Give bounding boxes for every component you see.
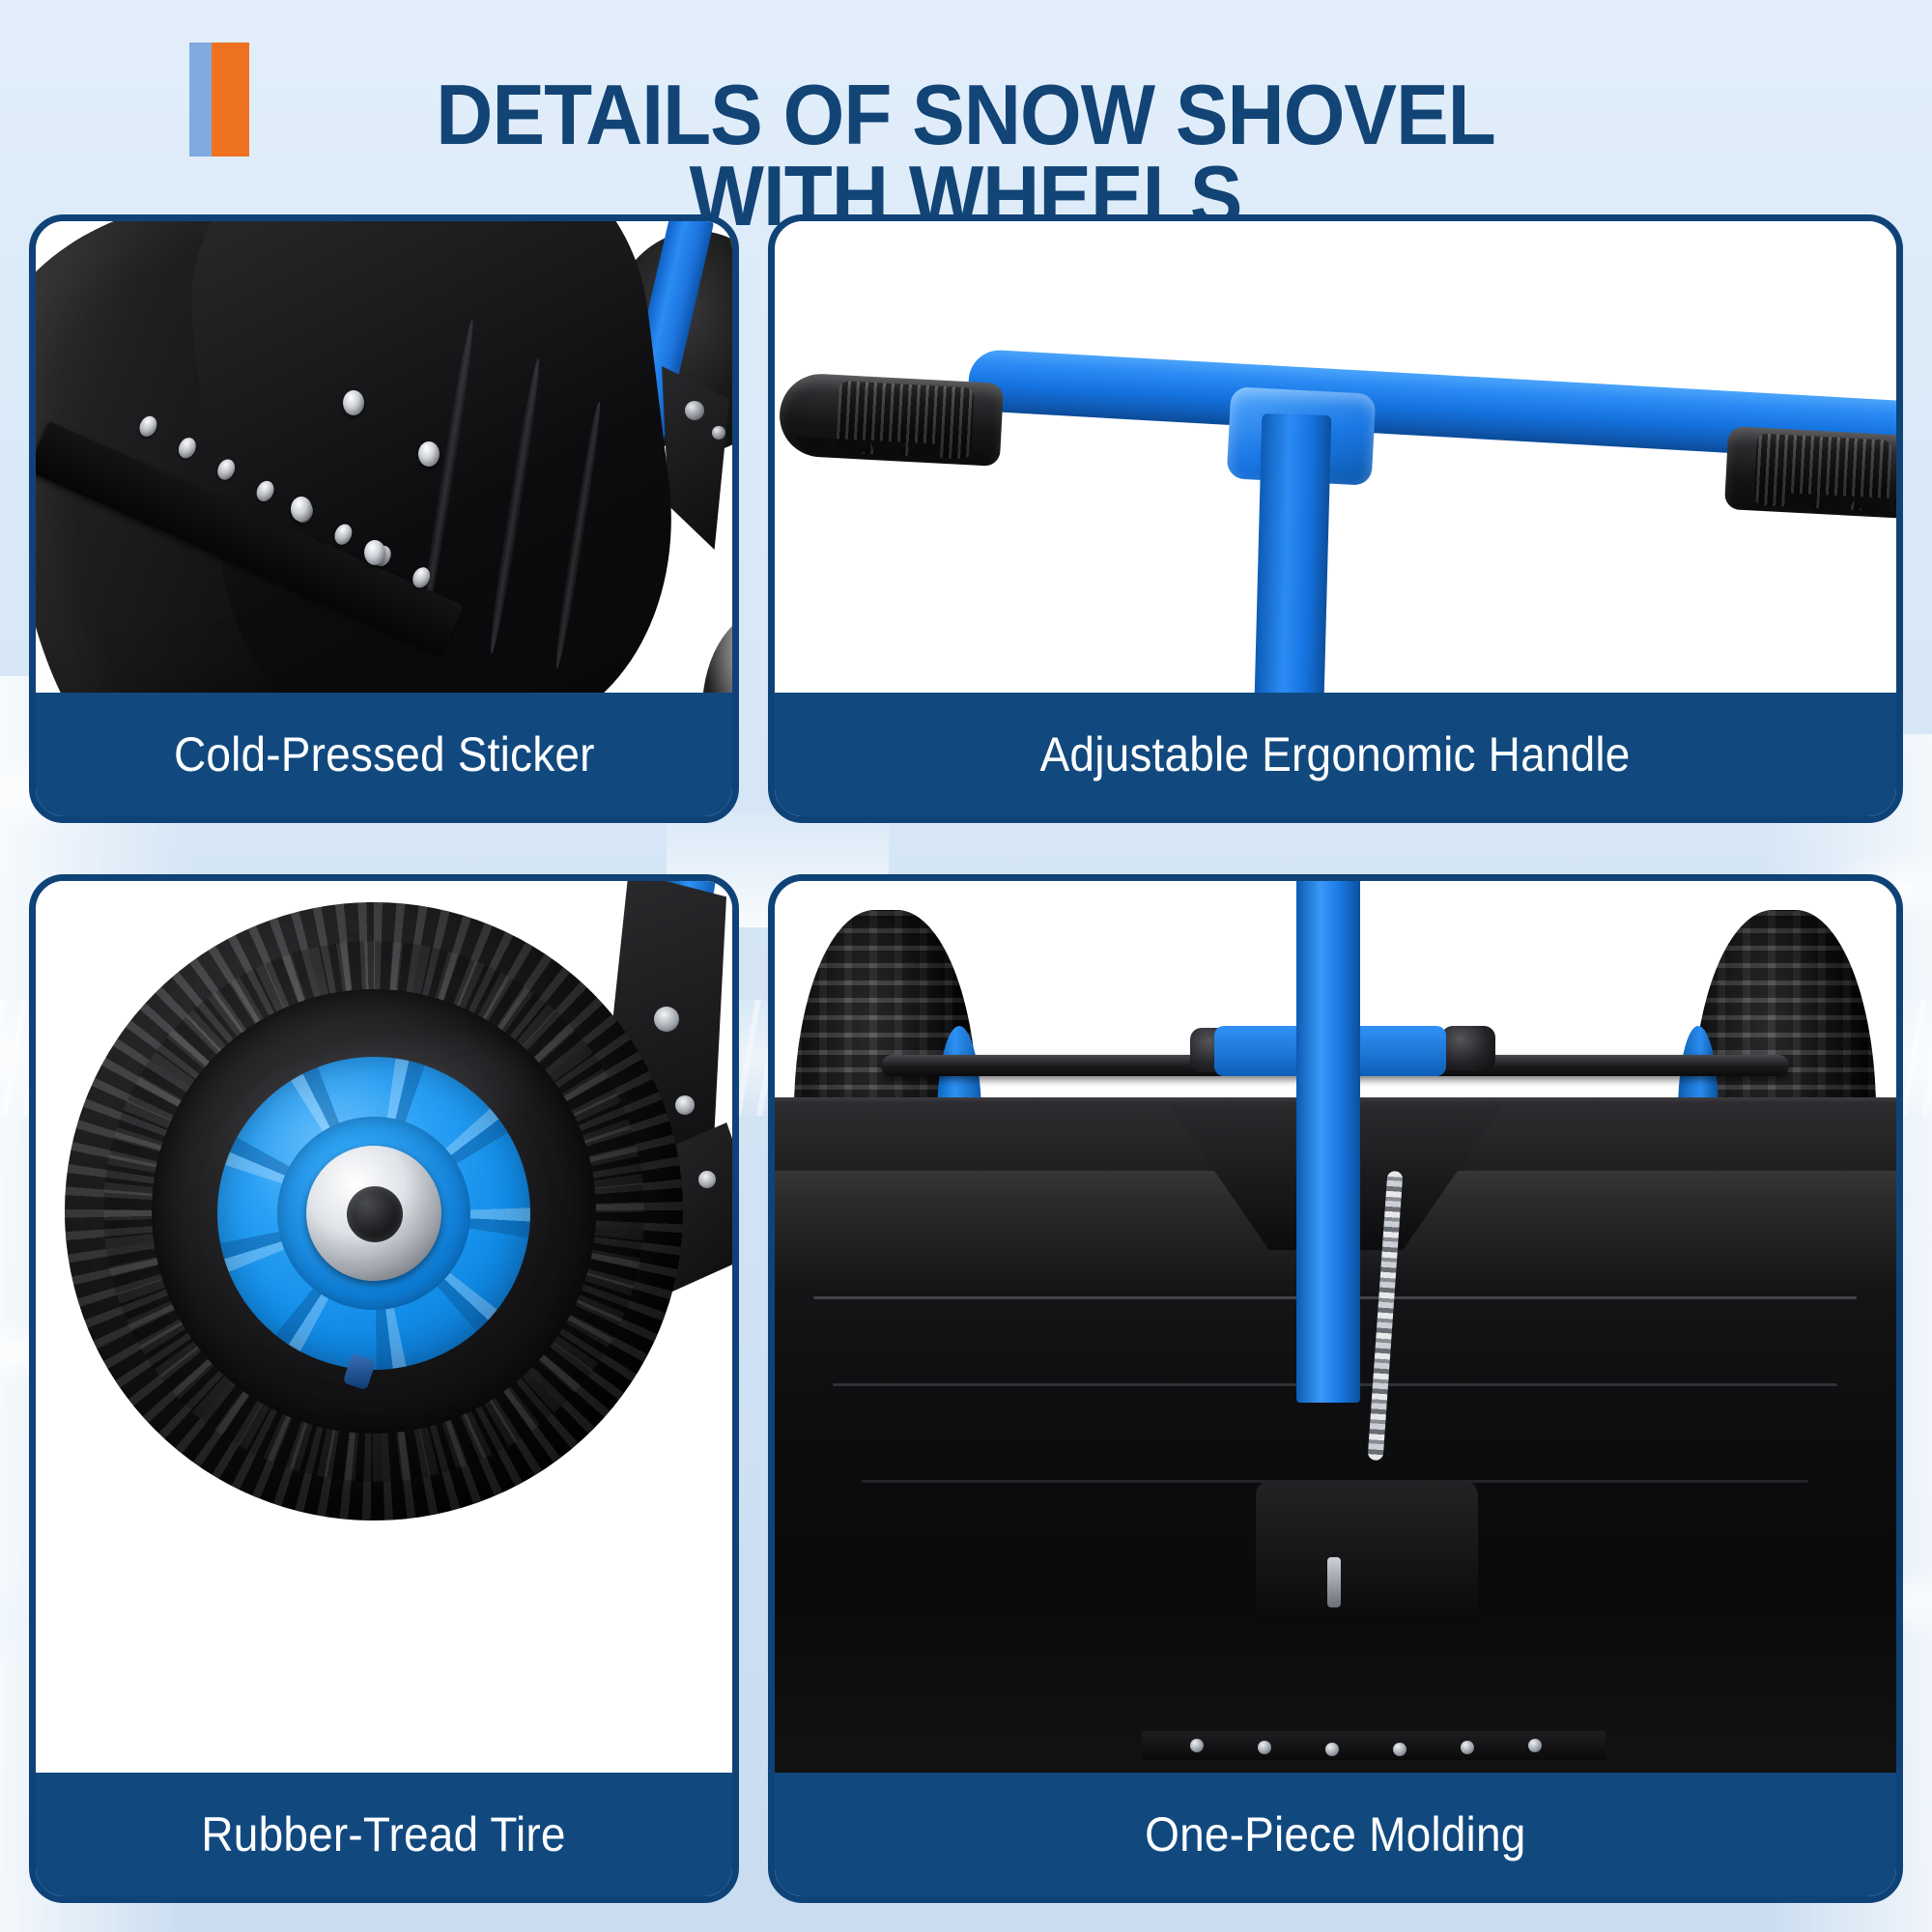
pivot-plate [1256,1480,1478,1625]
panel-caption-bar: Rubber-Tread Tire [36,1773,732,1896]
product-photo-handle [775,221,1896,699]
panel-caption-text: Cold-Pressed Sticker [174,726,595,782]
locking-pin [1327,1557,1341,1607]
page-title-line-1: DETAILS OF SNOW SHOVEL [437,74,1496,156]
feature-panel-rubber-tread-tire[interactable]: Rubber-Tread Tire [29,874,739,1903]
panel-caption-bar: Cold-Pressed Sticker [36,693,732,816]
product-photo-underside [775,881,1896,1775]
panel-caption-text: One-Piece Molding [1145,1806,1525,1862]
title-accent-bar [189,43,249,156]
grip-left [778,372,1004,467]
panel-caption-text: Rubber-Tread Tire [202,1806,566,1862]
panel-caption-bar: Adjustable Ergonomic Handle [775,693,1896,816]
grip-right [1724,426,1896,521]
handle-stem-tube [1254,413,1332,699]
bracket-hole [698,1171,716,1188]
blue-vertical-post [1296,881,1360,1403]
adjustment-knob-right [1441,1026,1495,1070]
accent-bar-orange [212,43,249,156]
sticker-screws [36,221,732,699]
product-photo-tire [36,881,732,1775]
page-title: DETAILS OF SNOW SHOVEL WITH WHEELS [437,74,1496,236]
bolt-icon [654,1007,679,1032]
feature-panel-cold-pressed-sticker[interactable]: Cold-Pressed Sticker [29,214,739,823]
feature-panel-one-piece-molding[interactable]: One-Piece Molding [768,874,1903,1903]
grip-finger-scallops [1783,493,1896,533]
panel-caption-bar: One-Piece Molding [775,1773,1896,1896]
bracket-hole [675,1095,695,1115]
product-photo-shovel-blade [36,221,732,699]
panel-caption-text: Adjustable Ergonomic Handle [1040,726,1631,782]
feature-panel-adjustable-ergonomic-handle[interactable]: Adjustable Ergonomic Handle [768,214,1903,823]
axle-end [347,1186,403,1242]
grip-finger-scallops [794,437,941,477]
accent-bar-blue [189,43,212,156]
